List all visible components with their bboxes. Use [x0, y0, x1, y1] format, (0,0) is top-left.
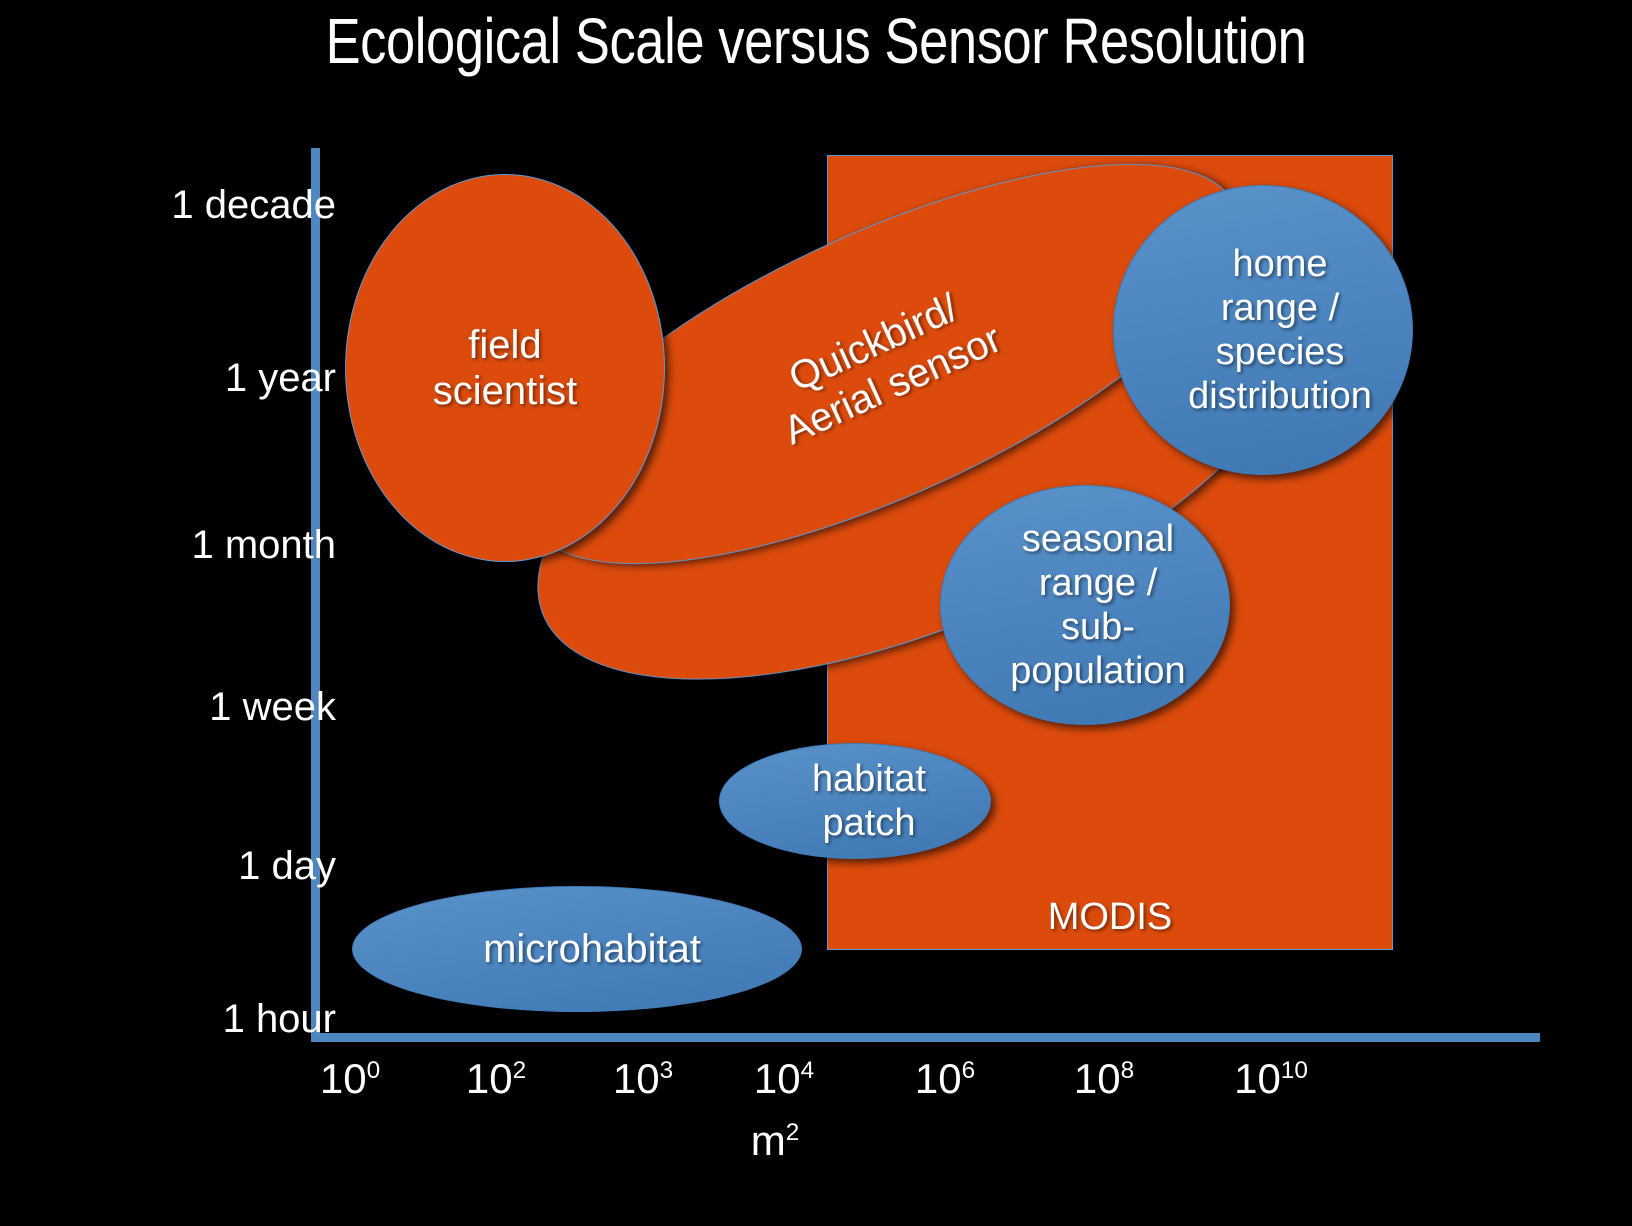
x-axis-line — [311, 1033, 1540, 1042]
y-tick-label-1-month: 1 month — [191, 525, 336, 565]
x-tick-base: 10 — [466, 1055, 513, 1102]
x-axis-title-base: m — [751, 1117, 786, 1164]
y-axis-line — [311, 148, 320, 1042]
y-tick-label-1-day: 1 day — [238, 846, 336, 886]
x-tick-base: 10 — [754, 1055, 801, 1102]
x-tick-base: 10 — [1234, 1055, 1281, 1102]
x-tick-exponent: 6 — [962, 1057, 976, 1084]
sensor-region-modis-label: MODIS — [1048, 895, 1173, 939]
scale-bubble-microhabitat[interactable]: microhabitat — [352, 886, 802, 1012]
x-tick-base: 10 — [1074, 1055, 1121, 1102]
x-tick-label-10e8: 108 — [1074, 1058, 1134, 1100]
x-tick-exponent: 10 — [1281, 1057, 1308, 1084]
y-tick-label-1-week: 1 week — [209, 687, 336, 727]
sensor-region-field-scientist-label: field scientist — [433, 322, 578, 415]
scale-bubble-seasonal-range[interactable]: seasonal range / sub- population — [940, 485, 1230, 725]
x-tick-base: 10 — [613, 1055, 660, 1102]
x-tick-label-10e0: 100 — [320, 1058, 380, 1100]
x-axis-title-exponent: 2 — [786, 1119, 800, 1146]
x-tick-label-10e2: 102 — [466, 1058, 526, 1100]
x-axis-title: m2 — [751, 1120, 800, 1162]
scale-bubble-habitat-patch[interactable]: habitat patch — [719, 743, 991, 859]
x-tick-label-10e10: 1010 — [1234, 1058, 1308, 1100]
x-tick-exponent: 0 — [367, 1057, 381, 1084]
scale-bubble-microhabitat-label: microhabitat — [453, 926, 701, 972]
x-tick-label-10e4: 104 — [754, 1058, 814, 1100]
x-tick-exponent: 4 — [801, 1057, 815, 1084]
x-tick-base: 10 — [320, 1055, 367, 1102]
sensor-region-field-scientist[interactable]: field scientist — [345, 174, 665, 562]
x-tick-label-10e6: 106 — [915, 1058, 975, 1100]
x-tick-exponent: 2 — [513, 1057, 527, 1084]
y-tick-label-1-hour: 1 hour — [223, 999, 336, 1039]
x-tick-base: 10 — [915, 1055, 962, 1102]
y-tick-label-1-year: 1 year — [225, 358, 336, 398]
x-tick-exponent: 3 — [660, 1057, 674, 1084]
y-tick-label-1-decade: 1 decade — [171, 185, 336, 225]
scale-bubble-habitat-patch-label: habitat patch — [784, 757, 926, 845]
x-tick-label-10e3: 103 — [613, 1058, 673, 1100]
x-tick-exponent: 8 — [1121, 1057, 1135, 1084]
scale-bubble-seasonal-range-label: seasonal range / sub- population — [984, 517, 1185, 693]
scale-bubble-home-range[interactable]: home range / species distribution — [1113, 185, 1413, 475]
scale-bubble-home-range-label: home range / species distribution — [1154, 242, 1372, 418]
slide-canvas: Ecological Scale versus Sensor Resolutio… — [0, 0, 1632, 1226]
sensor-region-quickbird-aerial-label: Quickbird/ Aerial sensor — [758, 273, 1009, 454]
page-title: Ecological Scale versus Sensor Resolutio… — [147, 6, 1485, 76]
